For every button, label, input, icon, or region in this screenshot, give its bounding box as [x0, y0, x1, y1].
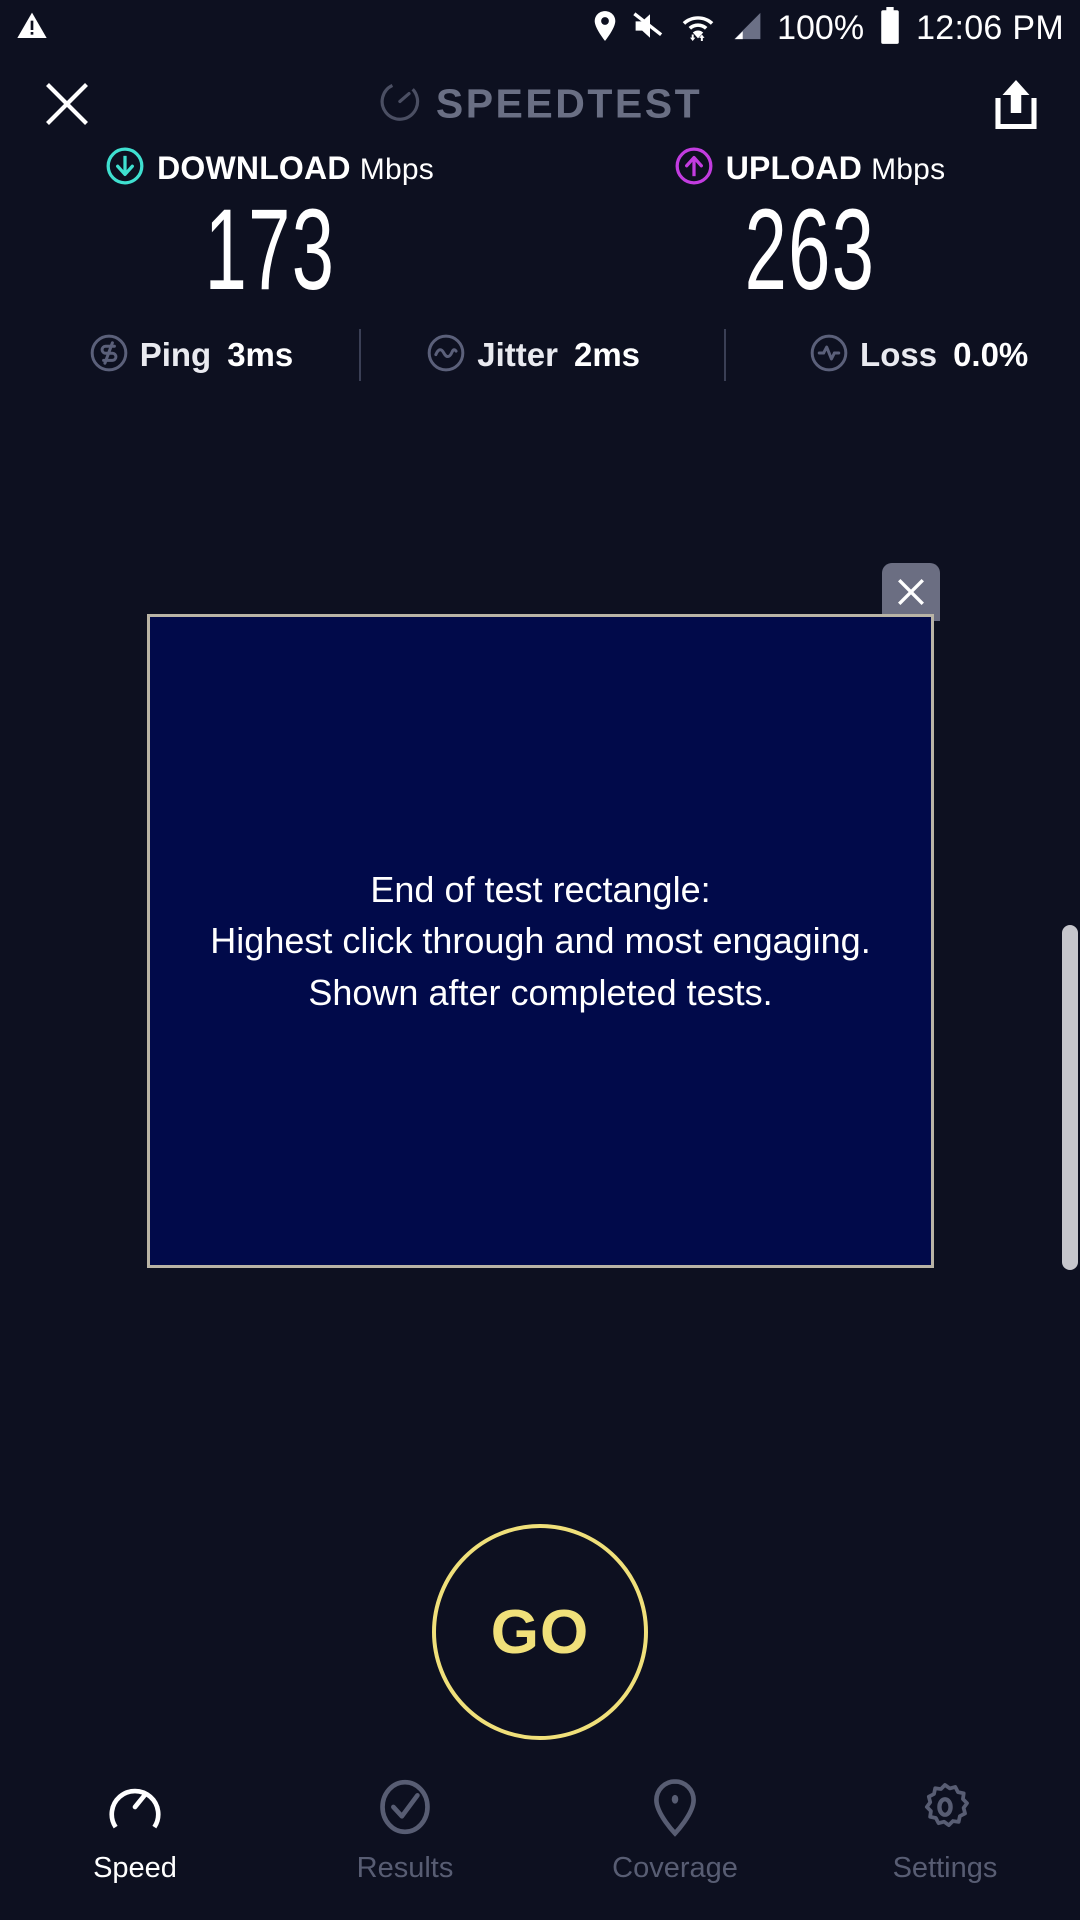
gear-icon	[914, 1774, 976, 1840]
upload-result: UPLOAD Mbps 263	[540, 146, 1080, 309]
upload-label: UPLOAD Mbps	[726, 150, 946, 187]
upload-label-row: UPLOAD Mbps	[675, 146, 946, 190]
metrics-row: Ping 3ms Jitter 2ms	[0, 325, 1080, 385]
loss-icon	[810, 334, 848, 377]
advertisement-banner[interactable]: End of test rectangle: Highest click thr…	[147, 614, 934, 1268]
ping-label: Ping	[140, 336, 212, 374]
ad-close-button[interactable]	[882, 563, 940, 621]
download-label-row: DOWNLOAD Mbps	[106, 146, 434, 190]
nav-item-results[interactable]: Results	[270, 1760, 540, 1920]
app-header: SPEEDTEST	[0, 56, 1080, 151]
jitter-label: Jitter	[477, 336, 558, 374]
warning-triangle-icon	[16, 10, 48, 47]
metrics-divider	[359, 329, 361, 381]
check-circle-icon	[374, 1774, 436, 1840]
battery-full-icon	[878, 7, 902, 50]
go-button[interactable]: GO	[432, 1524, 648, 1740]
close-x-icon	[41, 78, 93, 130]
ad-line-3: Shown after completed tests.	[210, 967, 870, 1018]
nav-label-speed: Speed	[93, 1852, 177, 1885]
metric-jitter: Jitter 2ms	[427, 334, 640, 377]
ad-close-x-icon	[894, 575, 928, 609]
nav-item-settings[interactable]: Settings	[810, 1760, 1080, 1920]
close-button[interactable]	[38, 75, 96, 133]
page-scrollbar[interactable]	[1062, 925, 1078, 1270]
ping-icon	[90, 334, 128, 377]
metric-loss: Loss 0.0%	[810, 334, 1028, 377]
nav-item-coverage[interactable]: Coverage	[540, 1760, 810, 1920]
results-panel: DOWNLOAD Mbps 173 UPLOAD Mbps	[0, 146, 1080, 385]
download-arrow-icon	[106, 147, 144, 190]
download-label: DOWNLOAD Mbps	[157, 150, 434, 187]
status-bar-left-icons	[16, 10, 48, 47]
status-bar-clock: 12:06 PM	[916, 9, 1064, 48]
map-pin-icon	[644, 1774, 706, 1840]
nav-label-results: Results	[357, 1852, 454, 1885]
share-upload-icon	[992, 77, 1040, 131]
mute-icon	[633, 10, 667, 47]
metric-ping: Ping 3ms	[90, 334, 294, 377]
location-pin-icon	[591, 10, 619, 47]
nav-label-settings: Settings	[893, 1852, 998, 1885]
download-value: 173	[205, 192, 336, 309]
ad-line-2: Highest click through and most engaging.	[210, 915, 870, 966]
download-result: DOWNLOAD Mbps 173	[0, 146, 540, 309]
speedtest-app-screen: 100% 12:06 PM SPEE	[0, 0, 1080, 1920]
jitter-icon	[427, 334, 465, 377]
download-upload-row: DOWNLOAD Mbps 173 UPLOAD Mbps	[0, 146, 1080, 309]
loss-label: Loss	[860, 336, 937, 374]
ad-text: End of test rectangle: Highest click thr…	[210, 864, 870, 1017]
wifi-icon	[681, 9, 715, 48]
status-bar-right-icons: 100% 12:06 PM	[591, 7, 1064, 50]
ping-value: 3ms	[227, 336, 293, 374]
bottom-navigation-bar: Speed Results Coverage	[0, 1760, 1080, 1920]
upload-value: 263	[745, 192, 876, 309]
android-status-bar: 100% 12:06 PM	[0, 0, 1080, 56]
share-button[interactable]	[988, 74, 1044, 134]
cellular-signal-icon	[729, 10, 763, 47]
speedometer-nav-icon	[104, 1774, 166, 1840]
speedometer-icon	[378, 79, 422, 128]
jitter-value: 2ms	[574, 336, 640, 374]
brand-logo: SPEEDTEST	[378, 79, 702, 128]
ad-line-1: End of test rectangle:	[210, 864, 870, 915]
nav-item-speed[interactable]: Speed	[0, 1760, 270, 1920]
go-button-label: GO	[491, 1597, 589, 1668]
metrics-divider-2	[724, 329, 726, 381]
battery-percent-label: 100%	[777, 9, 864, 48]
brand-title: SPEEDTEST	[436, 80, 702, 127]
upload-arrow-icon	[675, 147, 713, 190]
nav-label-coverage: Coverage	[612, 1852, 738, 1885]
loss-value: 0.0%	[953, 336, 1028, 374]
